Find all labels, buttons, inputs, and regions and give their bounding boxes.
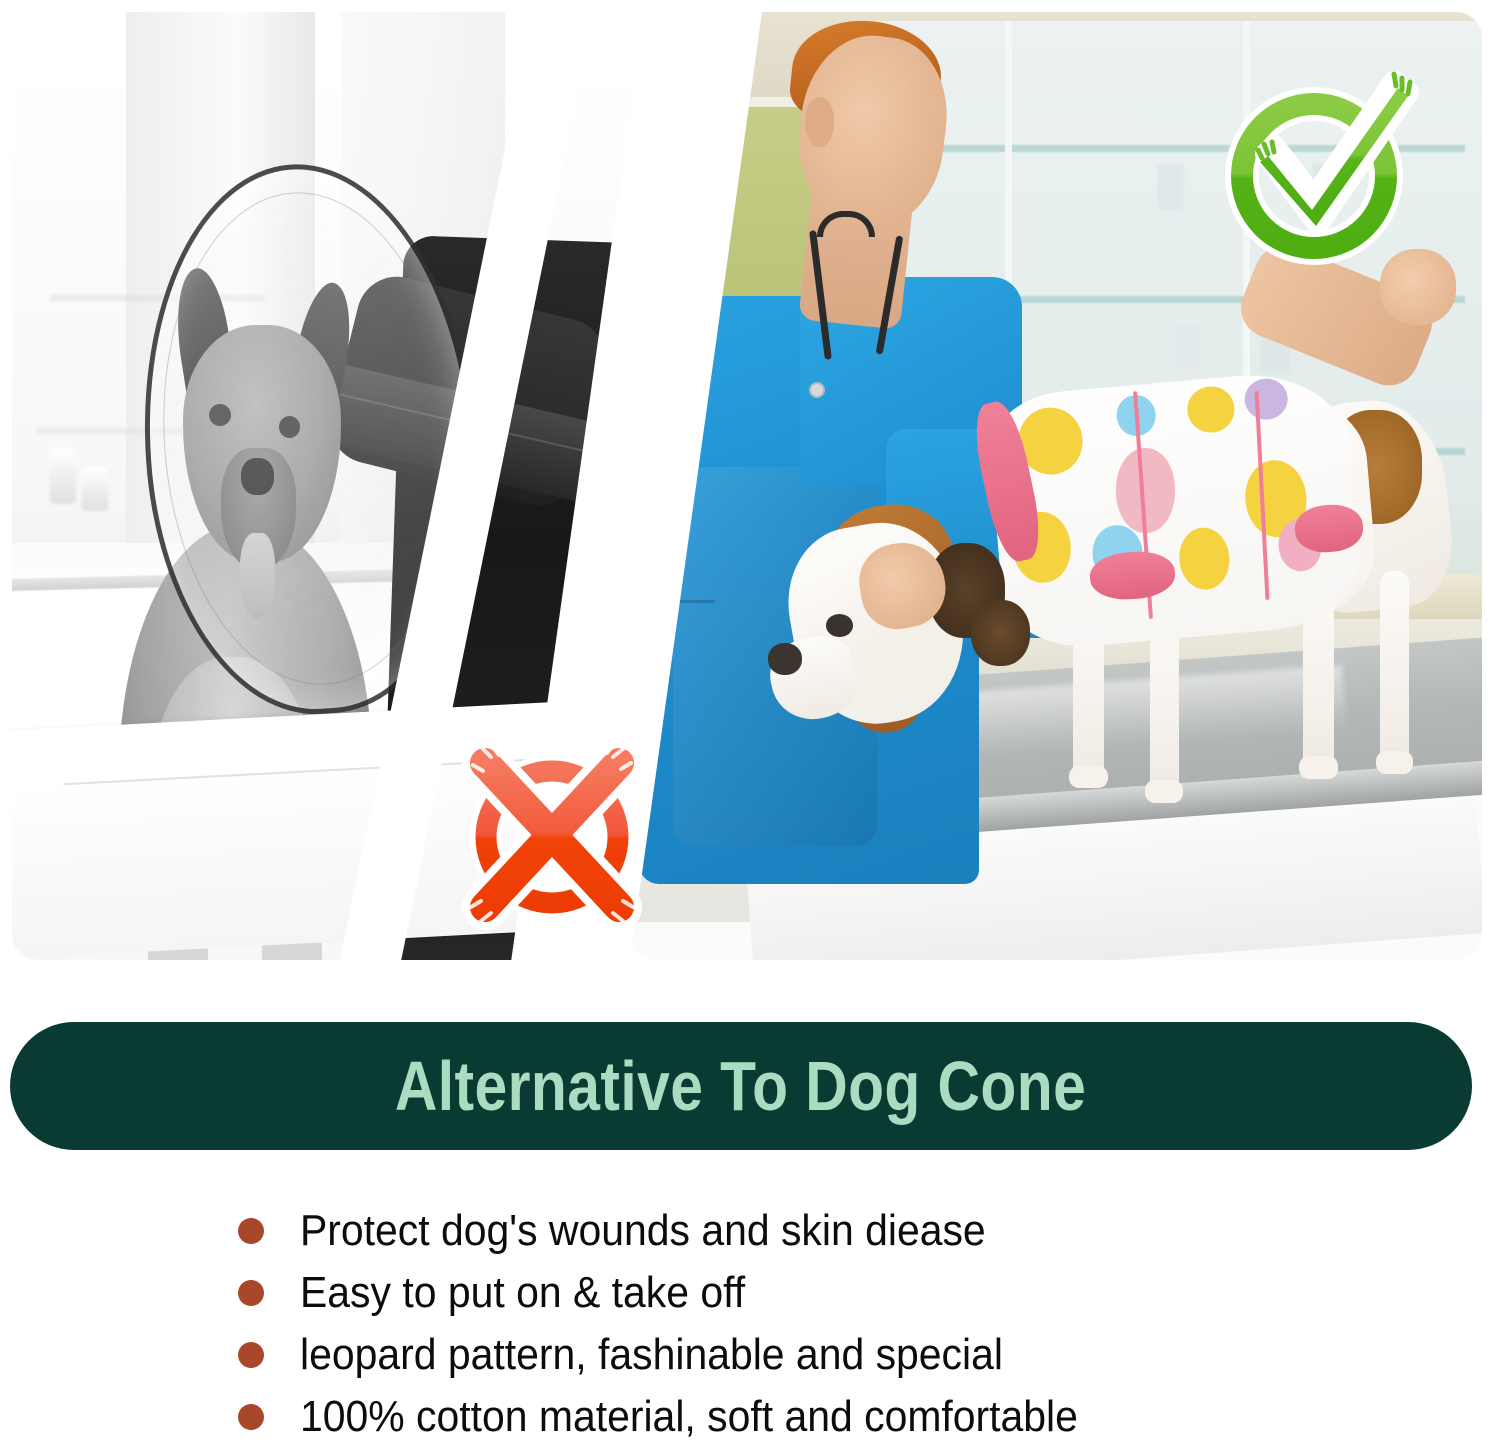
vet-ear (805, 97, 834, 146)
list-item: leopard pattern, fashinable and special (238, 1324, 1478, 1386)
left-bottle-2 (82, 467, 108, 511)
left-bottle (50, 448, 76, 504)
suit-dot-yellow-4 (1177, 526, 1232, 592)
beagle-neck-patch-2 (971, 600, 1031, 666)
banner-title: Alternative To Dog Cone (395, 1046, 1086, 1126)
beagle-paw-4 (1376, 751, 1413, 774)
red-x-badge-icon (457, 737, 647, 932)
suit-dot-yellow-2 (1186, 384, 1236, 434)
beagle-eye (826, 614, 853, 637)
beagle-nose (768, 643, 802, 674)
cabinet-jar-1 (1158, 164, 1184, 210)
bullet-dot-icon (238, 1404, 264, 1430)
feature-bullet-list: Protect dog's wounds and skin diease Eas… (238, 1200, 1478, 1448)
suit-dot-purple-1 (1243, 377, 1289, 422)
headline-banner: Alternative To Dog Cone (10, 1022, 1472, 1150)
bullet-text: Easy to put on & take off (300, 1268, 745, 1318)
bullet-dot-icon (238, 1218, 264, 1244)
green-check-badge-icon (1222, 58, 1432, 273)
list-item: Protect dog's wounds and skin diease (238, 1200, 1478, 1262)
bullet-text: leopard pattern, fashinable and special (300, 1330, 1003, 1380)
bullet-text: 100% cotton material, soft and comfortab… (300, 1392, 1078, 1442)
vet-scrubs-pocket (656, 600, 716, 603)
bullet-dot-icon (238, 1342, 264, 1368)
stethoscope-chestpiece (809, 382, 825, 398)
bullet-dot-icon (238, 1280, 264, 1306)
list-item: Easy to put on & take off (238, 1262, 1478, 1324)
beagle-leg-rear-2 (1380, 571, 1409, 770)
beagle-paw-1 (1069, 766, 1108, 789)
list-item: 100% cotton material, soft and comfortab… (238, 1386, 1478, 1448)
cabinet-jar-4 (1175, 325, 1199, 367)
comparison-photo-area (0, 0, 1494, 1000)
beagle-paw-2 (1145, 780, 1182, 803)
bullet-text: Protect dog's wounds and skin diease (300, 1206, 986, 1256)
beagle-paw-3 (1299, 756, 1338, 779)
